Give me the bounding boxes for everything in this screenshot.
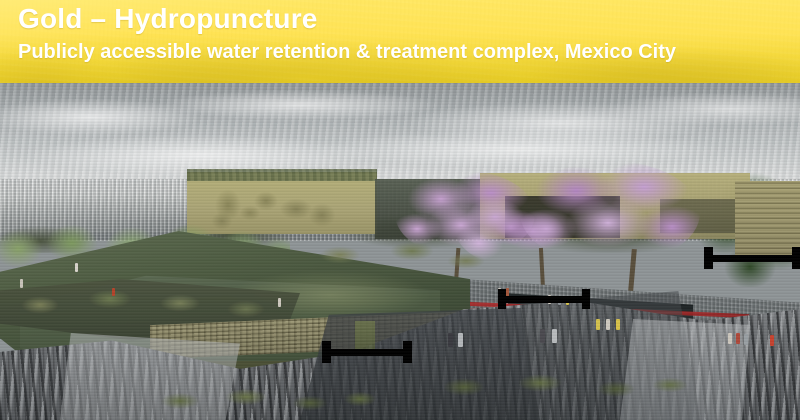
section-marker-cap-left (498, 289, 506, 309)
pedestrian-figure (540, 329, 545, 343)
section-marker-cap-left (322, 341, 331, 363)
pedestrian-figure (278, 298, 281, 307)
pedestrian-figure (20, 279, 23, 288)
pedestrian-figure (728, 333, 732, 344)
pedestrian-figure (770, 335, 774, 346)
wall-top-vegetation (187, 169, 377, 181)
foreground-vegetation-left (150, 383, 380, 420)
section-marker-bar (328, 349, 406, 356)
pedestrian-figure (744, 334, 748, 345)
pedestrian-figure (752, 334, 756, 345)
pedestrian-figure (458, 333, 463, 347)
project-rendering (0, 83, 800, 420)
jacaranda-tree-canopy-2 (520, 161, 700, 265)
pedestrian-figure (736, 333, 740, 344)
section-cut-marker-left (322, 341, 412, 363)
section-cut-marker-mid (498, 289, 590, 309)
section-marker-cap-right (582, 289, 590, 309)
project-subtitle: Publicly accessible water retention & tr… (18, 39, 676, 65)
pedestrian-figure (606, 319, 610, 330)
section-marker-bar (710, 255, 800, 262)
pedestrian-figure (552, 329, 557, 343)
section-marker-bar (503, 296, 585, 303)
award-title: Gold – Hydropuncture (18, 2, 318, 36)
pedestrian-figure (596, 319, 600, 330)
section-marker-cap-right (792, 247, 800, 269)
pedestrian-figure (75, 263, 78, 272)
section-marker-cap-left (704, 247, 713, 269)
pedestrian-figure (112, 288, 115, 296)
section-cut-marker-right (704, 247, 800, 269)
pedestrian-figure (616, 319, 620, 330)
pedestrian-figure (448, 333, 453, 347)
header-banner: Gold – Hydropuncture Publicly accessible… (0, 0, 800, 83)
award-board: Gold – Hydropuncture Publicly accessible… (0, 0, 800, 420)
section-marker-cap-right (403, 341, 412, 363)
foreground-vegetation-right (430, 369, 690, 411)
